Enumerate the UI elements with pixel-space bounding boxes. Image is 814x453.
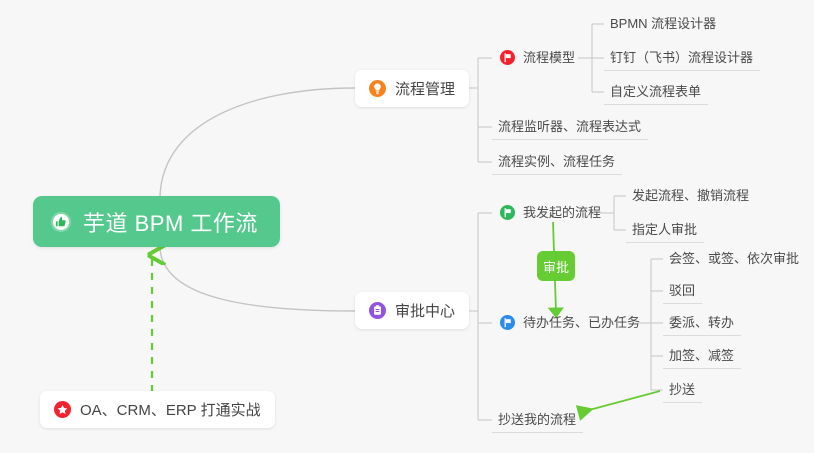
leaf-cc[interactable]: 抄送 (663, 377, 702, 403)
leaf-process-listener-expression[interactable]: 流程监听器、流程表达式 (492, 114, 648, 140)
leaf-label-designated-approver: 指定人审批 (632, 223, 697, 236)
root-label: 芋道 BPM 工作流 (83, 206, 258, 238)
star-icon (54, 401, 71, 418)
leaf-label-process-instance-task: 流程实例、流程任务 (498, 155, 615, 168)
leaf-label-reject: 驳回 (669, 284, 695, 297)
subnode-label-my-initiated-process: 我发起的流程 (523, 206, 601, 219)
leaf-countersign-orsign-sequential[interactable]: 会签、或签、依次审批 (663, 246, 806, 272)
subnode-process-model[interactable]: 流程模型 (494, 45, 582, 71)
branch-node-approval-center[interactable]: 审批中心 (355, 292, 469, 329)
flag-icon (500, 315, 515, 330)
subnode-label-todo-done-tasks: 待办任务、已办任务 (523, 316, 640, 329)
leaf-delegate-transfer[interactable]: 委派、转办 (663, 310, 741, 336)
annotation-chip-approve-label: 审批 (543, 257, 569, 276)
leaf-add-remove-sign[interactable]: 加签、减签 (663, 343, 741, 369)
leaf-process-instance-task[interactable]: 流程实例、流程任务 (492, 149, 622, 175)
leaf-label-delegate-transfer: 委派、转办 (669, 316, 734, 329)
clipboard-icon (369, 302, 386, 319)
leaf-designated-approver[interactable]: 指定人审批 (626, 217, 704, 243)
leaf-label-countersign-orsign-sequential: 会签、或签、依次审批 (669, 252, 799, 265)
subnode-label-process-model: 流程模型 (523, 51, 575, 64)
annotation-chip-approve: 审批 (537, 251, 575, 281)
leaf-label-cc-to-me-process: 抄送我的流程 (498, 413, 576, 426)
branch-node-process-management[interactable]: 流程管理 (355, 70, 469, 107)
floating-node-oa-crm-erp[interactable]: OA、CRM、ERP 打通实战 (40, 391, 275, 428)
flag-icon (500, 50, 515, 65)
leaf-dingtalk-feishu-designer[interactable]: 钉钉（飞书）流程设计器 (604, 45, 760, 71)
subnode-my-initiated-process[interactable]: 我发起的流程 (494, 200, 608, 226)
leaf-label-dingtalk-feishu-designer: 钉钉（飞书）流程设计器 (610, 51, 753, 64)
leaf-bpmn-designer[interactable]: BPMN 流程设计器 (604, 11, 723, 37)
arrow-cc-to-my-process (578, 391, 660, 413)
lightbulb-icon (369, 80, 386, 97)
edge-root-to-approval-center (160, 248, 355, 311)
leaf-reject[interactable]: 驳回 (663, 278, 702, 304)
mindmap-canvas: 芋道 BPM 工作流 流程管理 审批中心 (0, 0, 814, 453)
edge-root-to-process-management (160, 88, 355, 196)
leaf-label-custom-process-form: 自定义流程表单 (610, 85, 701, 98)
leaf-label-add-remove-sign: 加签、减签 (669, 349, 734, 362)
subnode-todo-done-tasks[interactable]: 待办任务、已办任务 (494, 310, 647, 336)
leaf-label-bpmn-designer: BPMN 流程设计器 (610, 17, 716, 30)
leaf-start-cancel-process[interactable]: 发起流程、撤销流程 (626, 183, 756, 209)
leaf-label-start-cancel-process: 发起流程、撤销流程 (632, 189, 749, 202)
leaf-label-cc: 抄送 (669, 383, 695, 396)
root-node[interactable]: 芋道 BPM 工作流 (33, 196, 280, 247)
flag-icon (500, 205, 515, 220)
leaf-cc-to-me-process[interactable]: 抄送我的流程 (492, 407, 583, 433)
leaf-custom-process-form[interactable]: 自定义流程表单 (604, 79, 708, 105)
floating-label-oa-crm-erp: OA、CRM、ERP 打通实战 (80, 399, 261, 420)
thumbs-up-icon (50, 211, 72, 233)
leaf-label-process-listener-expression: 流程监听器、流程表达式 (498, 120, 641, 133)
branch-label-process-management: 流程管理 (395, 78, 455, 99)
branch-label-approval-center: 审批中心 (395, 300, 455, 321)
